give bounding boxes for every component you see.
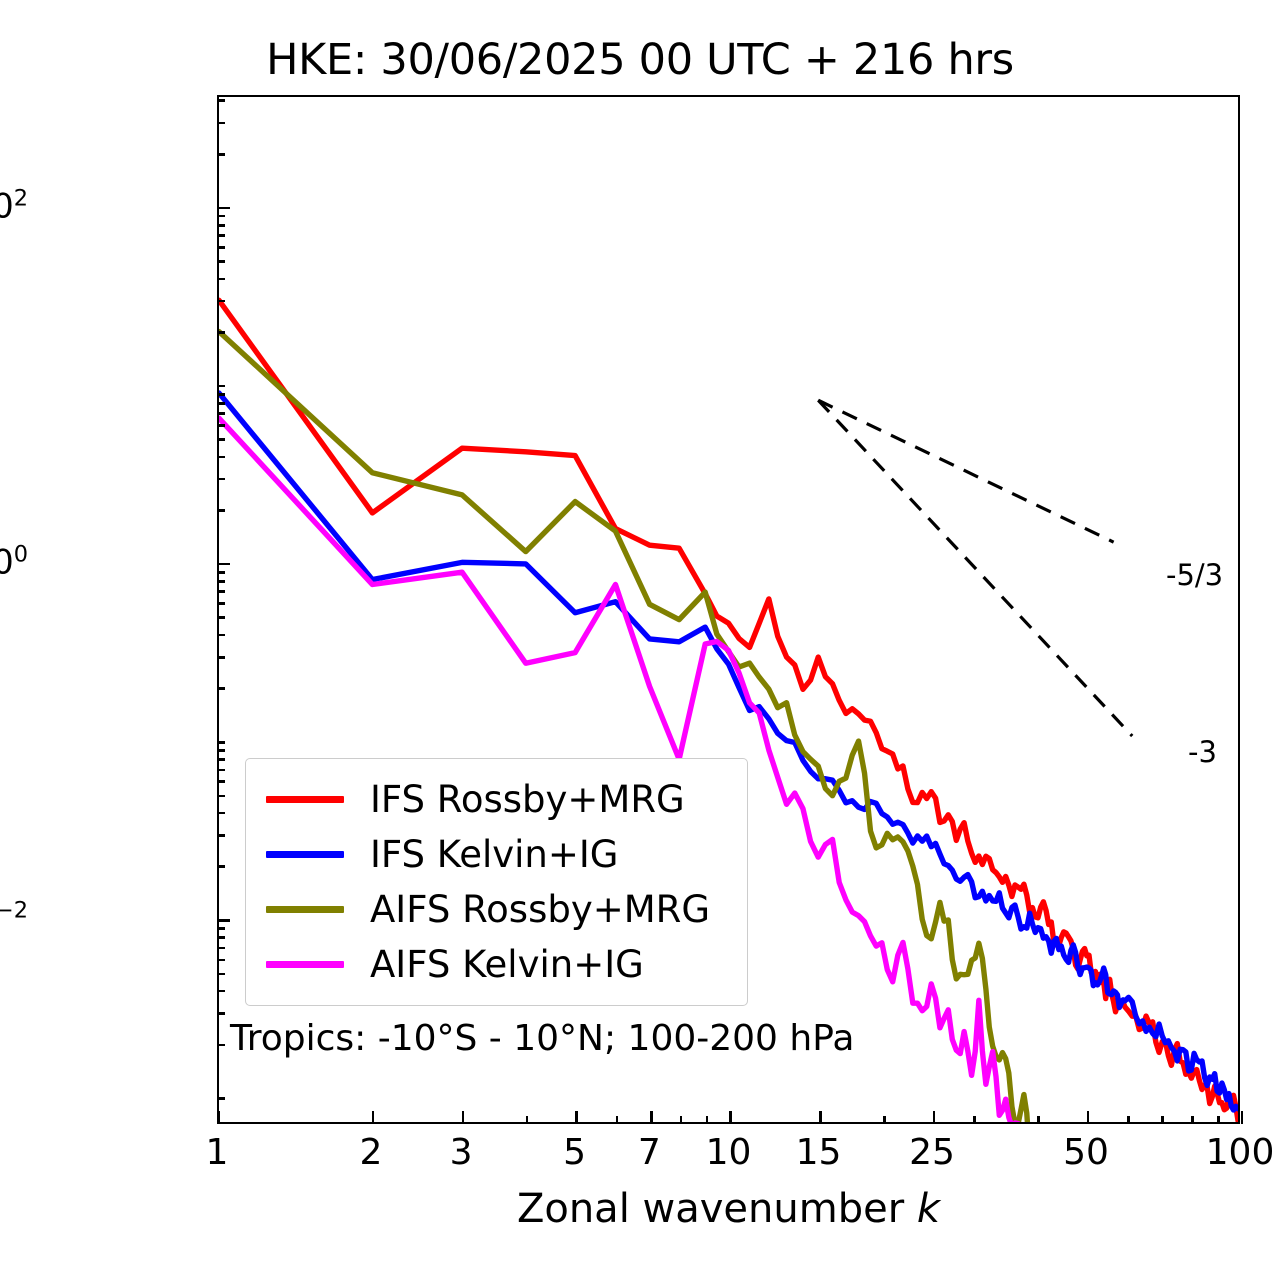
y-tick-minor [217,990,225,993]
y-tick-minor [217,769,225,772]
y-tick-minor [217,780,225,783]
legend-item-label: IFS Rossby+MRG [370,781,685,818]
y-tick-minor [217,634,225,637]
y-tick-minor [217,153,225,156]
x-tick-minor [973,1116,976,1124]
x-tick-major [372,1111,375,1124]
y-tick-minor [217,393,225,396]
x-tick-label: 15 [796,1132,842,1173]
x-tick-minor [1217,1116,1220,1124]
y-tick-label: 102 [0,185,28,226]
x-tick-major [462,1111,465,1124]
x-tick-major [819,1111,822,1124]
reference-slope-line [818,400,1113,542]
y-tick-major [217,919,230,922]
region-annotation: Tropics: -10°S - 10°N; 100-200 hPa [230,1018,854,1059]
y-tick-minor [217,959,225,962]
x-axis-title: Zonal wavenumber k [217,1186,1240,1232]
legend: IFS Rossby+MRGIFS Kelvin+IGAIFS Rossby+M… [245,758,748,1006]
x-tick-major [575,1111,578,1124]
y-tick-minor [217,936,225,939]
chart-title: HKE: 30/06/2025 00 UTC + 216 hrs [0,38,1280,83]
x-tick-major [933,1111,936,1124]
x-tick-label: 5 [563,1132,586,1173]
legend-color-swatch [266,906,344,913]
x-tick-major [218,1111,221,1124]
x-tick-major [1087,1111,1090,1124]
y-tick-minor [217,590,225,593]
y-tick-exponent: −2 [0,898,28,924]
legend-item[interactable]: IFS Rossby+MRG [246,772,747,827]
reference-slope-line [818,400,1132,736]
slope-label-five-thirds: -5/3 [1166,558,1223,592]
x-tick-label: 25 [909,1132,955,1173]
legend-color-swatch [266,851,344,858]
y-tick-label: 10−2 [0,898,28,939]
x-tick-minor [883,1116,886,1124]
y-tick-minor [217,973,225,976]
y-tick-minor [217,438,225,441]
x-tick-major [729,1111,732,1124]
y-tick-minor [217,580,225,583]
y-tick-minor [217,571,225,574]
x-tick-label: 1 [206,1132,229,1173]
y-tick-minor [217,456,225,459]
y-tick-minor [217,947,225,950]
x-tick-minor [1037,1116,1040,1124]
y-tick-minor [217,234,225,237]
x-tick-label: 3 [450,1132,473,1173]
legend-item[interactable]: AIFS Rossby+MRG [246,882,747,937]
y-tick-minor [217,656,225,659]
y-tick-minor [217,602,225,605]
y-tick-minor [217,1044,225,1047]
y-tick-minor [217,1012,225,1015]
y-tick-minor [217,749,225,752]
y-tick-minor [217,1097,225,1100]
x-tick-minor [616,1116,619,1124]
legend-item[interactable]: AIFS Kelvin+IG [246,937,747,992]
y-tick-minor [217,687,225,690]
legend-item-label: IFS Kelvin+IG [370,836,618,873]
y-tick-minor [217,300,225,303]
y-tick-minor [217,758,225,761]
x-tick-label: 10 [706,1132,752,1173]
x-axis-title-symbol: k [917,1186,940,1232]
x-axis-title-text: Zonal wavenumber [517,1186,917,1232]
x-tick-label: 100 [1206,1132,1275,1173]
y-tick-minor [217,616,225,619]
y-tick-minor [217,385,225,388]
x-tick-label: 2 [360,1132,383,1173]
y-tick-mantissa: 10 [0,543,14,583]
y-tick-mantissa: 10 [0,187,14,227]
y-tick-minor [217,478,225,481]
y-tick-minor [217,795,225,798]
chart-figure: HKE: 30/06/2025 00 UTC + 216 hrs Zonal w… [0,0,1280,1288]
y-tick-minor [217,741,225,744]
legend-color-swatch [266,961,344,968]
y-tick-minor [217,122,225,125]
y-tick-exponent: 0 [14,541,28,567]
x-tick-minor [526,1116,529,1124]
y-tick-exponent: 2 [14,185,28,211]
x-tick-major [1241,1111,1244,1124]
y-tick-minor [217,331,225,334]
y-tick-label: 100 [0,541,28,582]
x-tick-minor [1161,1116,1164,1124]
y-tick-minor [217,412,225,415]
x-tick-major [650,1111,653,1124]
slope-label-minus-three: -3 [1188,735,1217,769]
y-tick-minor [217,246,225,249]
y-tick-minor [217,509,225,512]
y-tick-minor [217,927,225,930]
x-tick-minor [706,1116,709,1124]
y-tick-minor [217,865,225,868]
y-tick-minor [217,260,225,263]
y-tick-minor [217,402,225,405]
y-tick-minor [217,99,225,102]
legend-item[interactable]: IFS Kelvin+IG [246,827,747,882]
x-tick-minor [1191,1116,1194,1124]
x-tick-label: 50 [1063,1132,1109,1173]
y-tick-minor [217,278,225,281]
legend-color-swatch [266,796,344,803]
x-tick-minor [1127,1116,1130,1124]
y-tick-minor [217,834,225,837]
y-tick-major [217,563,230,566]
y-tick-major [217,207,230,210]
legend-item-label: AIFS Rossby+MRG [370,891,710,928]
y-tick-minor [217,424,225,427]
y-tick-minor [217,224,225,227]
y-tick-minor [217,812,225,815]
legend-item-label: AIFS Kelvin+IG [370,946,644,983]
x-tick-minor [680,1116,683,1124]
x-tick-label: 7 [638,1132,661,1173]
y-tick-minor [217,215,225,218]
